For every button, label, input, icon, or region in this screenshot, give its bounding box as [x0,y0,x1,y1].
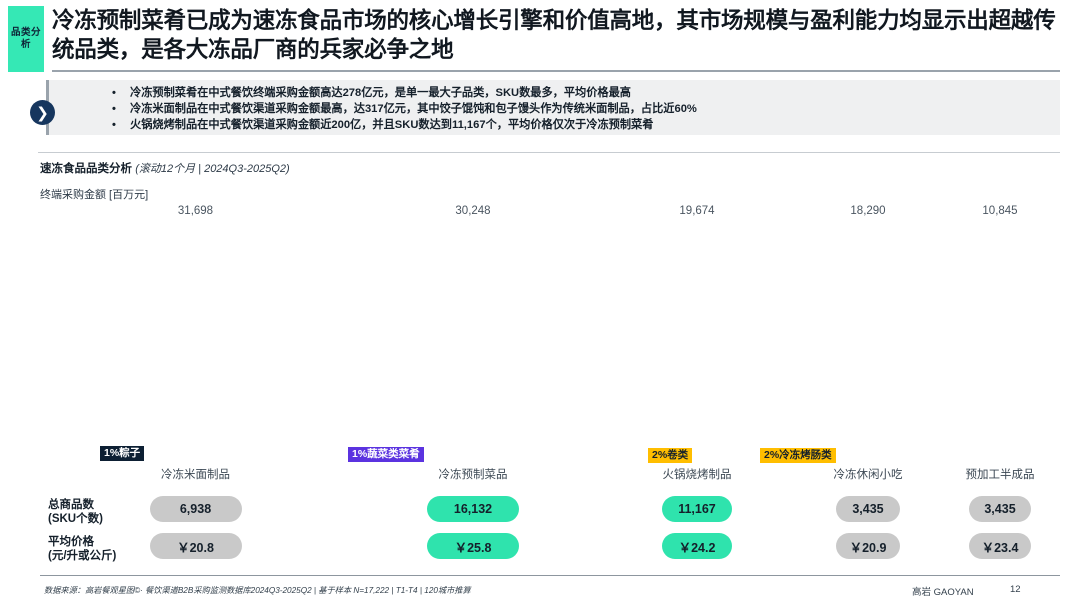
mekko-column: 30,248 [339,228,607,457]
chevron-right-icon: ❯ [30,100,55,125]
column-total-label: 31,698 [55,205,336,217]
chart-category-label: 火锅烧烤制品 [610,466,784,482]
chart-divider [38,152,1060,153]
mekko-column: 18,290 [787,228,949,457]
bullet-dot-icon: • [112,117,130,133]
chart-category-label: 冷冻预制菜品 [339,466,607,482]
y-axis-label: 终端采购金额 [百万元] [40,186,148,202]
metric-label-sku-line1: 总商品数 [48,498,103,512]
mekko-column: 10,845 [952,228,1048,457]
metric-pill-price: ￥20.8 [150,533,242,559]
headline-divider [52,70,1060,72]
list-item-text: 火锅烧烤制品在中式餐饮渠道采购金额近200亿，并且SKU数达到11,167个，平… [130,117,653,133]
metric-label-sku-line2: (SKU个数) [48,512,103,526]
metric-pill-sku: 3,435 [969,496,1031,522]
page-number: 12 [1010,584,1021,595]
metric-label-price-line1: 平均价格 [48,535,116,549]
column-total-label: 30,248 [339,205,607,217]
list-item: • 冷冻米面制品在中式餐饮渠道采购金额最高，达317亿元，其中饺子馄饨和包子馒头… [112,101,1052,117]
chart-title: 速冻食品品类分析 (滚动12个月 | 2024Q3-2025Q2) [40,160,290,176]
takeaway-list: • 冷冻预制菜肴在中式餐饮终端采购金额高达278亿元，是单一最大子品类，SKU数… [112,85,1052,133]
chart-subtitle: (滚动12个月 | 2024Q3-2025Q2) [135,163,289,175]
metric-pill-sku: 6,938 [150,496,242,522]
slide: 品类分析 冷冻预制菜肴已成为速冻食品市场的核心增长引擎和价值高地，其市场规模与盈… [0,0,1080,608]
metric-pill-price: ￥24.2 [662,533,732,559]
page-title: 冷冻预制菜肴已成为速冻食品市场的核心增长引擎和价值高地，其市场规模与盈利能力均显… [52,6,1070,64]
footer-divider [40,575,1060,576]
metric-pill-price: ￥20.9 [836,533,901,559]
metric-pill-price: ￥25.8 [427,533,519,559]
chart-category-label: 冷冻休闲小吃 [787,466,949,482]
chart-category-label: 冷冻米面制品 [55,466,336,482]
footer-brand: 高岩 GAOYAN [912,584,974,598]
bullet-dot-icon: • [112,85,130,101]
footer-source: 数据来源：高岩餐观星图©· 餐饮渠道B2B采购监测数据库2024Q3-2025Q… [44,584,471,596]
chart-category-label: 预加工半成品 [952,466,1048,482]
list-item-text: 冷冻预制菜肴在中式餐饮终端采购金额高达278亿元，是单一最大子品类，SKU数最多… [130,85,631,101]
column-total-label: 19,674 [610,205,784,217]
callout-kaochang: 2%冷冻烤肠类 [760,448,836,463]
callout-juanlei: 2%卷类 [648,448,692,463]
mekko-column: 19,674 [610,228,784,457]
list-item-text: 冷冻米面制品在中式餐饮渠道采购金额最高，达317亿元，其中饺子馄饨和包子馒头作为… [130,101,697,117]
marimekko-chart: 31,69830,24819,67418,29010,845 [55,228,1048,457]
metric-pill-sku: 11,167 [662,496,732,522]
list-item: • 冷冻预制菜肴在中式餐饮终端采购金额高达278亿元，是单一最大子品类，SKU数… [112,85,1052,101]
key-takeaways-box: • 冷冻预制菜肴在中式餐饮终端采购金额高达278亿元，是单一最大子品类，SKU数… [46,80,1060,135]
metric-label-sku: 总商品数 (SKU个数) [48,498,103,526]
metric-pill-sku: 3,435 [836,496,901,522]
chart-title-text: 速冻食品品类分析 [40,163,132,175]
metric-pill-price: ￥23.4 [969,533,1031,559]
list-item: • 火锅烧烤制品在中式餐饮渠道采购金额近200亿，并且SKU数达到11,167个… [112,117,1052,133]
column-total-label: 10,845 [952,205,1048,217]
callout-zongzi: 1%粽子 [100,446,144,461]
bullet-dot-icon: • [112,101,130,117]
mekko-column: 31,698 [55,228,336,457]
metric-label-price: 平均价格 (元/升或公斤) [48,535,116,563]
metric-label-price-line2: (元/升或公斤) [48,549,116,563]
category-tag: 品类分析 [8,6,44,72]
metric-pill-sku: 16,132 [427,496,519,522]
callout-shucai: 1%蔬菜类菜肴 [348,447,424,462]
column-total-label: 18,290 [787,205,949,217]
